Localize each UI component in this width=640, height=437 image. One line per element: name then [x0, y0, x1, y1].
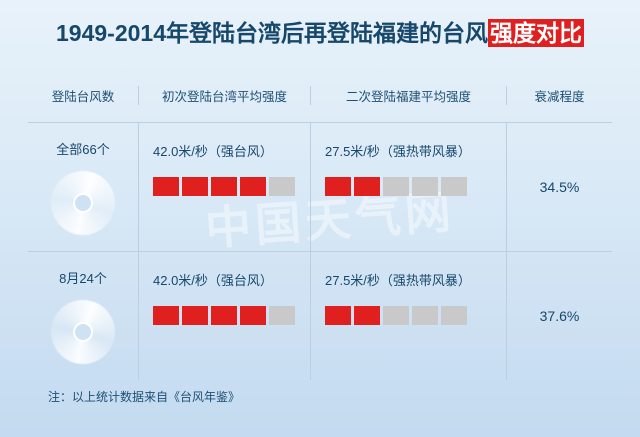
typhoon-icon	[51, 300, 115, 364]
header-typhoon-count: 登陆台风数	[28, 86, 138, 105]
taiwan-intensity-bar	[153, 177, 295, 196]
taiwan-intensity-bar	[153, 306, 295, 325]
decay-cell: 34.5%	[506, 123, 612, 251]
page-title: 1949-2014年登陆台湾后再登陆福建的台风强度对比	[0, 14, 640, 48]
header-taiwan-intensity: 初次登陆台湾平均强度	[138, 86, 310, 105]
fujian-intensity-cell: 27.5米/秒（强热带风暴）	[310, 252, 506, 380]
row-label-cell: 全部66个	[28, 123, 138, 251]
header-fujian-intensity: 二次登陆福建平均强度	[310, 86, 506, 105]
row-label-cell: 8月24个	[28, 252, 138, 380]
title-prefix: 1949-2014年登陆台湾后再登陆福建的台风	[56, 20, 488, 46]
fujian-intensity-value: 27.5米/秒（强热带风暴）	[311, 252, 506, 289]
fujian-intensity-bar	[325, 177, 467, 196]
header-decay: 衰减程度	[506, 86, 612, 105]
taiwan-intensity-cell: 42.0米/秒（强台风）	[138, 252, 310, 380]
fujian-intensity-bar	[325, 306, 467, 325]
row-label: 全部66个	[28, 123, 138, 158]
fujian-intensity-value: 27.5米/秒（强热带风暴）	[311, 123, 506, 160]
fujian-intensity-cell: 27.5米/秒（强热带风暴）	[310, 123, 506, 251]
table-header-row: 登陆台风数 初次登陆台湾平均强度 二次登陆福建平均强度 衰减程度	[28, 68, 612, 123]
comparison-table: 登陆台风数 初次登陆台湾平均强度 二次登陆福建平均强度 衰减程度 全部66个 4…	[28, 68, 612, 380]
table-row: 全部66个 42.0米/秒（强台风） 27.5米/秒（强热带风暴） 34.5%	[28, 123, 612, 252]
decay-cell: 37.6%	[506, 252, 612, 380]
taiwan-intensity-value: 42.0米/秒（强台风）	[139, 123, 310, 160]
decay-value: 37.6%	[507, 252, 612, 324]
taiwan-intensity-cell: 42.0米/秒（强台风）	[138, 123, 310, 251]
taiwan-intensity-value: 42.0米/秒（强台风）	[139, 252, 310, 289]
infographic-root: 1949-2014年登陆台湾后再登陆福建的台风强度对比 中国天气网 登陆台风数 …	[0, 0, 640, 437]
row-label: 8月24个	[28, 252, 138, 287]
typhoon-icon	[51, 171, 115, 235]
decay-value: 34.5%	[507, 123, 612, 195]
source-note: 注：以上统计数据来自《台风年鉴》	[48, 388, 240, 405]
title-highlight: 强度对比	[488, 19, 584, 47]
table-row: 8月24个 42.0米/秒（强台风） 27.5米/秒（强热带风暴） 37.6%	[28, 252, 612, 380]
